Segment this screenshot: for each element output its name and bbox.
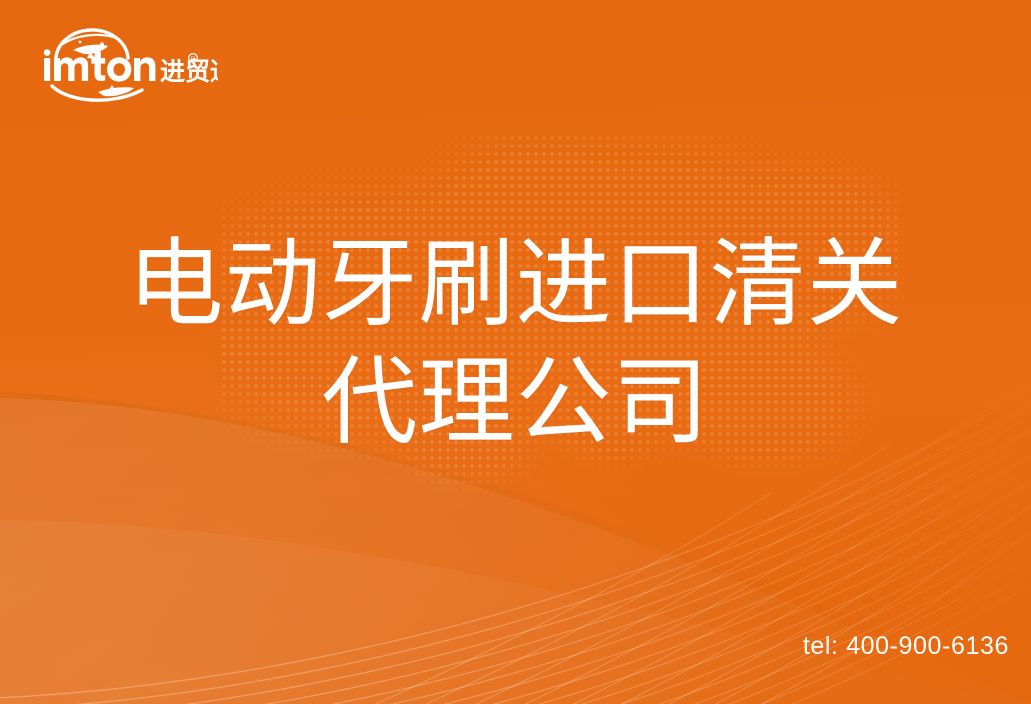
globe-arc-icon — [56, 30, 128, 62]
contact-phone[interactable]: tel: 400-900-6136 — [803, 632, 1009, 661]
logo-wordmark-chinese: 进贸通 — [160, 58, 218, 86]
headline-line-1: 电动牙刷进口清关 — [0, 226, 1031, 344]
brand-logo[interactable]: 进贸通 R — [38, 28, 218, 102]
ship-swoosh-icon — [52, 85, 142, 100]
logo-wordmark-latin — [44, 49, 156, 81]
page-title: 电动牙刷进口清关 代理公司 — [0, 226, 1031, 462]
svg-text:R: R — [191, 57, 196, 63]
headline-line-2: 代理公司 — [0, 344, 1031, 462]
promo-banner: 进贸通 R 电动牙刷进口清关 代理公司 tel: 400-900-6136 — [0, 0, 1031, 704]
